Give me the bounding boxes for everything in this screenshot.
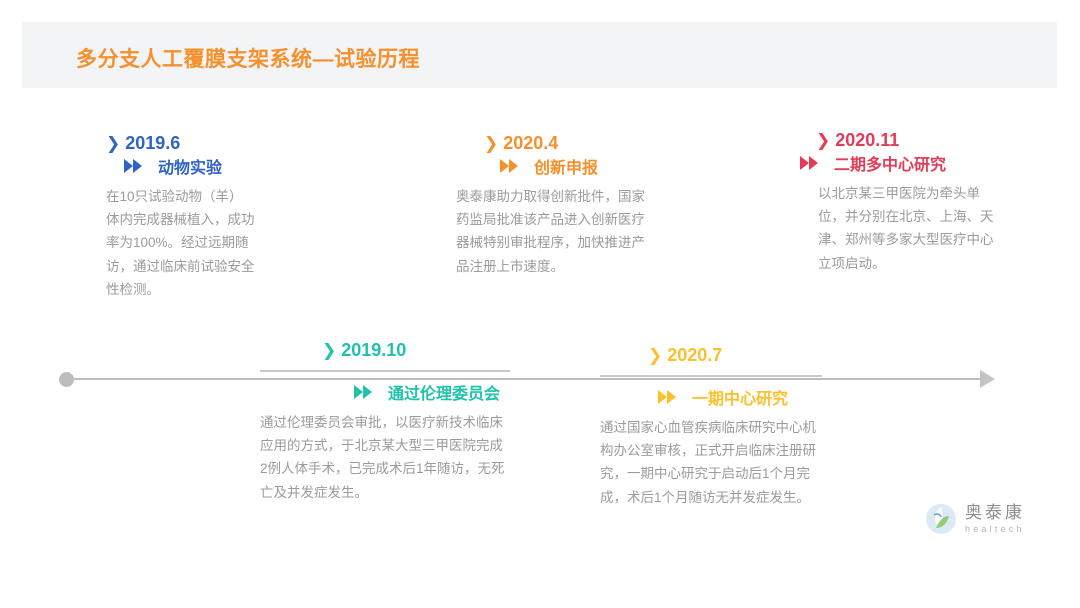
entry-date-label: 2019.10 xyxy=(341,340,406,361)
entry-heading-ethics: 通过伦理委员会 xyxy=(354,380,572,404)
entry-body-phase1: 通过国家心血管疾病临床研究中心机构办公室审核，正式开启临床注册研究，一期中心研究… xyxy=(600,416,822,509)
entry-date-label: 2019.6 xyxy=(125,133,180,154)
entry-body-phase2: 以北京某三甲医院为牵头单位，并分别在北京、上海、天津、郑州等多家大型医疗中心立项… xyxy=(818,182,1003,275)
timeline-entry-ethics[interactable]: ❯ 2019.10 通过伦理委员会 通过伦理委员会审批，以医疗新技术临床应用的方… xyxy=(322,340,572,504)
timeline-infographic: 多分支人工覆膜支架系统—试验历程 ❯ 2019.6 动物实验 在10只试验动物（… xyxy=(0,0,1080,608)
chevron-right-icon: ❯ xyxy=(106,135,120,152)
entry-date-ethics: ❯ 2019.10 xyxy=(322,340,572,361)
entry-date-innovation: ❯ 2020.4 xyxy=(484,133,699,154)
entry-date-label: 2020.4 xyxy=(503,133,558,154)
entry-body-ethics: 通过伦理委员会审批，以医疗新技术临床应用的方式，于北京某大型三甲医院完成2例人体… xyxy=(260,411,510,504)
entry-heading-innovation: 创新申报 xyxy=(500,154,699,178)
entry-heading-label: 通过伦理委员会 xyxy=(388,380,500,404)
logo-name-en: healtech xyxy=(965,525,1025,534)
company-logo: 奥泰康 healtech xyxy=(925,503,1025,535)
fast-forward-icon xyxy=(354,385,374,399)
chevron-right-icon: ❯ xyxy=(484,135,498,152)
entry-body-animal: 在10只试验动物（羊）体内完成器械植入，成功率为100%。经过远期随访，通过临床… xyxy=(106,185,256,301)
entry-date-phase1: ❯ 2020.7 xyxy=(648,345,870,366)
timeline-entry-innovation[interactable]: ❯ 2020.4 创新申报 奥泰康助力取得创新批件，国家药监局批准该产品进入创新… xyxy=(484,133,699,278)
fast-forward-icon xyxy=(500,159,520,173)
timeline-entry-animal[interactable]: ❯ 2019.6 动物实验 在10只试验动物（羊）体内完成器械植入，成功率为10… xyxy=(106,133,266,301)
entry-heading-phase2: 二期多中心研究 xyxy=(800,151,1015,175)
page-title: 多分支人工覆膜支架系统—试验历程 xyxy=(76,43,420,73)
timeline-entry-phase1[interactable]: ❯ 2020.7 一期中心研究 通过国家心血管疾病临床研究中心机构办公室审核，正… xyxy=(648,345,870,509)
entry-date-label: 2020.7 xyxy=(667,345,722,366)
axis-arrowhead-icon xyxy=(980,370,995,388)
entry-heading-label: 动物实验 xyxy=(158,154,222,178)
chevron-right-icon: ❯ xyxy=(648,347,662,364)
entry-heading-phase1: 一期中心研究 xyxy=(658,385,870,409)
entry-heading-label: 创新申报 xyxy=(534,154,598,178)
logo-name-cn: 奥泰康 xyxy=(965,504,1025,521)
fast-forward-icon xyxy=(658,390,678,404)
fast-forward-icon xyxy=(124,159,144,173)
fast-forward-icon xyxy=(800,156,820,170)
entry-date-animal: ❯ 2019.6 xyxy=(106,133,266,154)
entry-body-innovation: 奥泰康助力取得创新批件，国家药监局批准该产品进入创新医疗器械特别审批程序，加快推… xyxy=(456,185,656,278)
entry-date-label: 2020.11 xyxy=(835,130,899,151)
entry-connector-line xyxy=(260,370,510,372)
entry-heading-label: 一期中心研究 xyxy=(692,385,788,409)
healtech-logo-icon xyxy=(925,503,957,535)
entry-connector-line xyxy=(600,375,822,377)
chevron-right-icon: ❯ xyxy=(816,132,830,149)
entry-heading-label: 二期多中心研究 xyxy=(834,151,946,175)
logo-wordmark: 奥泰康 healtech xyxy=(965,504,1025,534)
entry-heading-animal: 动物实验 xyxy=(124,154,266,178)
entry-date-phase2: ❯ 2020.11 xyxy=(816,130,1015,151)
timeline-entry-phase2[interactable]: ❯ 2020.11 二期多中心研究 以北京某三甲医院为牵头单位，并分别在北京、上… xyxy=(800,130,1015,275)
chevron-right-icon: ❯ xyxy=(322,342,336,359)
